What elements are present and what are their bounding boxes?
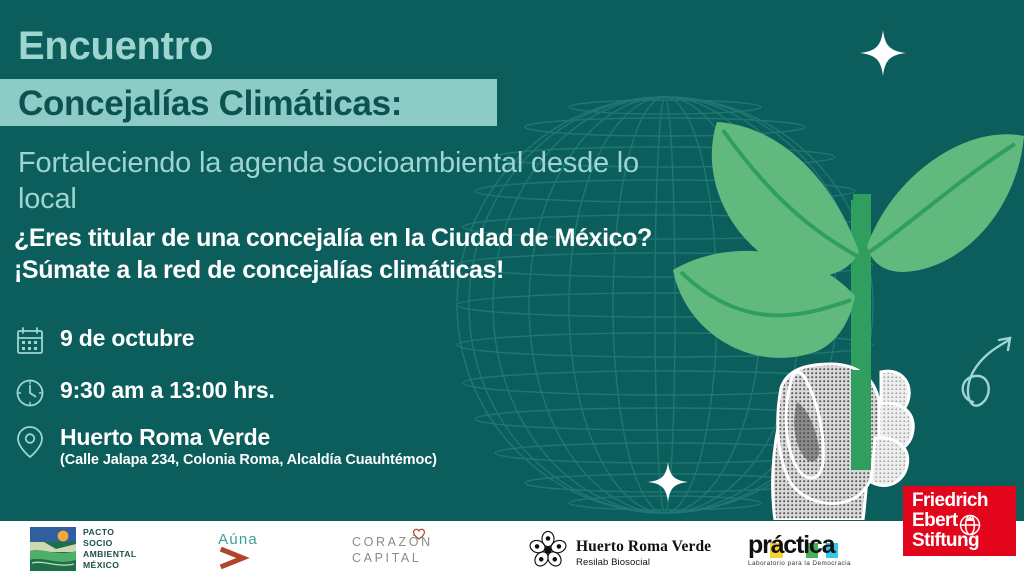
event-poster: Encuentro Concejalías Climáticas: Fortal… (0, 0, 1024, 580)
sparkle-icon (860, 30, 906, 76)
pacto-landscape-icon (30, 527, 76, 571)
practica-name-text: práctica (748, 531, 834, 559)
friedrich-ebert-stiftung-logo: Friedrich Ebert Stiftung (903, 486, 1016, 556)
auna-chevron-icon (213, 547, 263, 574)
detail-row-location: Huerto Roma Verde (Calle Jalapa 234, Col… (12, 425, 437, 468)
logo-auna: Aúna (213, 531, 263, 574)
subtitle: Fortaleciendo la agenda socioambiental d… (18, 146, 658, 217)
practica-wordmark: práctica (748, 533, 851, 558)
venue-name: Huerto Roma Verde (60, 425, 437, 450)
fes-globe-icon (959, 514, 981, 541)
title-line-2: Concejalías Climáticas: (18, 84, 402, 124)
question-line-1: ¿Eres titular de una concejalía en la Ci… (14, 224, 652, 253)
huerto-mandala-icon (528, 530, 568, 575)
detail-row-time: 9:30 am a 13:00 hrs. (12, 378, 275, 408)
venue-address: (Calle Jalapa 234, Colonia Roma, Alcaldí… (60, 452, 437, 468)
location-pin-icon (12, 425, 48, 459)
corazon-line-2: CAPITAL (352, 551, 433, 565)
corazon-heart-icon (412, 528, 426, 543)
calendar-icon (12, 326, 48, 356)
clock-icon (12, 378, 48, 408)
logo-practica: práctica Laboratorio para la Democracia (748, 533, 851, 567)
corazon-line-1: CORAZÓN (352, 535, 433, 549)
poster-text-content: Encuentro Concejalías Climáticas: Fortal… (0, 0, 680, 520)
huerto-name: Huerto Roma Verde (576, 538, 711, 556)
logo-corazon-capital: CORAZÓN CAPITAL (352, 535, 433, 565)
pacto-line-4: MÉXICO (83, 560, 137, 571)
auna-wordmark: Aúna (213, 531, 263, 548)
fes-line-1: Friedrich (912, 491, 988, 511)
logo-huerto-roma-verde: Huerto Roma Verde Resilab Biosocial (528, 530, 711, 575)
curly-arrow-icon (955, 330, 1024, 420)
logo-pacto-socio-ambiental: PACTO SOCIO AMBIENTAL MÉXICO (30, 527, 137, 571)
pacto-line-2: SOCIO (83, 538, 137, 549)
date-value: 9 de octubre (60, 326, 194, 351)
pacto-line-3: AMBIENTAL (83, 549, 137, 560)
time-value: 9:30 am a 13:00 hrs. (60, 378, 275, 403)
title-line-1: Encuentro (18, 24, 213, 69)
sponsor-footer: PACTO SOCIO AMBIENTAL MÉXICO Aúna CORAZÓ… (0, 521, 1024, 580)
pacto-line-1: PACTO (83, 527, 137, 538)
detail-row-date: 9 de octubre (12, 326, 194, 356)
question-line-2: ¡Súmate a la red de concejalías climátic… (14, 256, 504, 285)
hand-holding-seedling-artwork (655, 120, 1024, 520)
huerto-tagline: Resilab Biosocial (576, 557, 711, 568)
